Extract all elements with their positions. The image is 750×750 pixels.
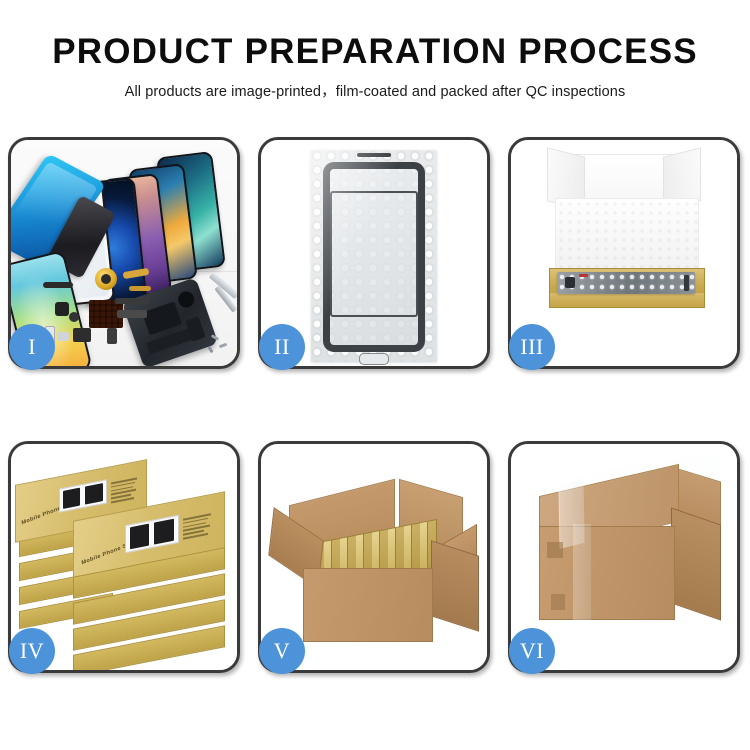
phone-thumb-icon [130,524,149,550]
phone-thumb-icon [154,519,174,545]
part-edge-icon [684,275,689,291]
carton-tab-upper-icon [547,542,563,558]
screw-3-icon [207,346,213,354]
step-badge-2: II [259,324,305,370]
step-panel-3: III [508,137,740,369]
foam-padding-icon [555,198,699,276]
part-connector-icon [565,277,575,288]
packing-tape-front-icon [573,524,591,620]
flex-strip-icon [43,282,73,288]
carton-side-face [431,540,479,632]
flex-cable-gold-2-icon [129,286,151,291]
carton-front-face [303,568,433,642]
step-panel-4: Mobile Phone Spare Parts [8,441,240,673]
step-panel-6: VI [508,441,740,673]
step-badge-6: VI [509,628,555,674]
step-badge-1: I [9,324,55,370]
camera-lens-icon [55,302,69,316]
sensor-icon [69,312,79,322]
product-preparation-infographic: PRODUCT PREPARATION PROCESS All products… [0,0,750,750]
step-badge-3: III [509,324,555,370]
sim-tray-icon [57,332,69,341]
flex-cable-dark-icon [115,298,149,304]
page-title: PRODUCT PREPARATION PROCESS [0,34,750,71]
connector-icon [117,310,147,318]
step-badge-4: IV [9,628,55,674]
camera-module-icon [176,289,196,309]
carton-tab-lower-icon [551,594,565,610]
bubble-wrap-icon [311,150,437,362]
kraft-box-front-face [550,293,704,307]
vibration-motor-icon [95,268,117,290]
step-panel-5: V [258,441,490,673]
screw-2-icon [219,343,228,349]
wrapped-screen-part-icon [557,272,695,294]
part-marker-icon [579,274,588,277]
wrap-gloss [311,150,437,362]
small-battery-icon [107,328,117,344]
carton-side-face [671,507,721,620]
phone-thumb-icon [85,483,103,504]
header: PRODUCT PREPARATION PROCESS All products… [0,0,750,101]
earpiece-speaker-icon [73,328,91,342]
step-panel-2: II [258,137,490,369]
steps-grid: I II [8,137,742,673]
step-badge-5: V [259,628,305,674]
packed-box-icon [420,519,428,573]
battery-icon [142,301,182,335]
page-subtitle: All products are image-printed，film-coat… [0,80,750,101]
step-panel-1: I [8,137,240,369]
